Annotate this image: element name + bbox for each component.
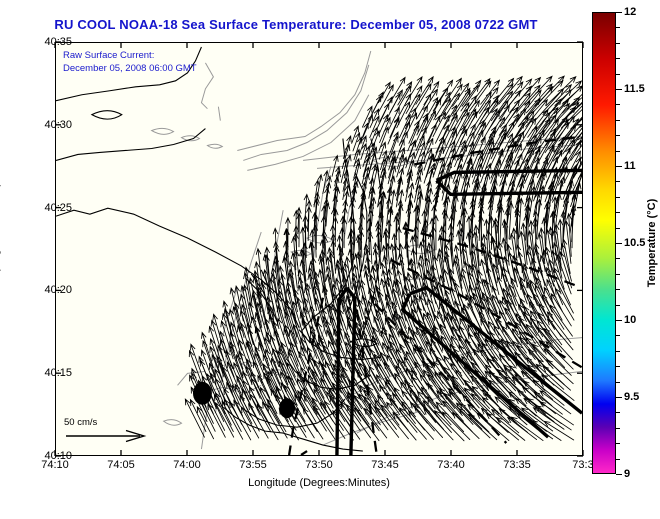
colorbar-tick-mark (616, 181, 620, 182)
x-axis-tick-label: 73:35 (503, 459, 531, 471)
x-axis-tick-label: 73:50 (305, 459, 333, 471)
scale-bar: 50 cm/s (64, 417, 160, 443)
current-vector (529, 221, 534, 262)
figure-title: RU COOL NOAA-18 Sea Surface Temperature:… (0, 17, 592, 32)
current-vector (554, 276, 574, 313)
y-axis-tick-label: 40:20 (44, 284, 72, 296)
y-axis-tick-label: 40:30 (44, 119, 72, 131)
colorbar-tick-mark (616, 366, 620, 367)
station-marker (279, 398, 295, 418)
colorbar-tick-label: 11 (624, 160, 636, 172)
colorbar-tick-mark (616, 135, 620, 136)
colorbar-tick-mark (616, 228, 620, 229)
y-axis-label: Latitude (Degrees:Minutes) (0, 183, 1, 316)
x-axis-tick-label: 73:40 (437, 459, 465, 471)
colorbar-tick-mark (616, 289, 620, 290)
current-vector (427, 397, 451, 425)
current-vector (303, 408, 323, 439)
colorbar-tick-mark (616, 104, 620, 105)
subtitle-overlay: Raw Surface Current: December 05, 2008 0… (63, 49, 197, 75)
current-vector (307, 207, 312, 241)
current-vector (492, 356, 516, 384)
colorbar-tick-label: 10 (624, 314, 636, 326)
current-vector (484, 220, 489, 256)
current-vector (561, 244, 572, 281)
x-axis-tick-label: 74:05 (107, 459, 135, 471)
surface-current-vectors (185, 76, 582, 441)
scale-bar-label: 50 cm/s (64, 417, 160, 428)
current-vector (533, 380, 564, 405)
colorbar-tick-mark (616, 274, 620, 275)
map-plot-area[interactable]: Raw Surface Current: December 05, 2008 0… (55, 42, 583, 456)
x-axis-tick-label: 74:10 (41, 459, 69, 471)
colorbar-tick-label: 9.5 (624, 391, 639, 403)
current-vector (533, 408, 564, 429)
current-vector (417, 94, 431, 119)
current-vector (457, 221, 462, 256)
current-vector (353, 133, 360, 151)
x-axis-tick-label: 73:45 (371, 459, 399, 471)
colorbar-tick-mark (616, 243, 622, 244)
colorbar-tick-label: 9 (624, 468, 630, 480)
subtitle-line-1: Raw Surface Current: (63, 49, 197, 62)
colorbar-tick-mark (616, 459, 620, 460)
current-vector (354, 137, 362, 159)
station-marker (193, 382, 212, 405)
colorbar-tick-mark (616, 428, 620, 429)
colorbar-tick-mark (616, 58, 620, 59)
colorbar-tick-mark (616, 89, 622, 90)
colorbar-tick-mark (616, 197, 620, 198)
x-axis-tick-label: 74:00 (173, 459, 201, 471)
subtitle-line-2: December 05, 2008 06:00 GMT (63, 62, 197, 75)
current-vector (388, 119, 399, 144)
colorbar-tick-mark (616, 412, 620, 413)
colorbar-tick-mark (616, 320, 622, 321)
current-vector (528, 110, 548, 138)
sst-map-figure: RU COOL NOAA-18 Sea Surface Temperature:… (0, 0, 660, 519)
colorbar-tick-mark (616, 43, 620, 44)
x-axis-tick-label: 73:3 (572, 459, 593, 471)
current-vector (397, 227, 402, 257)
colorbar-tick-mark (616, 120, 620, 121)
y-axis-tick-label: 40:15 (44, 367, 72, 379)
colorbar-title: Temperature (°C) (646, 199, 658, 288)
colorbar-tick-mark (616, 474, 622, 475)
y-axis-tick-label: 40:25 (44, 202, 72, 214)
scale-bar-arrow-icon (64, 429, 150, 443)
current-vector (497, 418, 525, 441)
map-graphics (56, 43, 582, 455)
colorbar-tick-mark (616, 166, 622, 167)
x-axis-label: Longitude (Degrees:Minutes) (248, 477, 390, 489)
current-vector (284, 251, 289, 281)
colorbar-tick-mark (616, 351, 620, 352)
colorbar-ticks (592, 12, 616, 474)
colorbar-tick-mark (616, 74, 620, 75)
colorbar-tick-mark (616, 151, 620, 152)
colorbar-tick-mark (616, 27, 620, 28)
colorbar-tick-mark (616, 335, 620, 336)
colorbar-tick-label: 11.5 (624, 83, 645, 95)
colorbar-tick-mark (616, 258, 620, 259)
y-axis-tick-label: 40:35 (44, 36, 72, 48)
current-vector (558, 220, 563, 256)
colorbar-tick-label: 12 (624, 6, 636, 18)
colorbar-tick-label: 10.5 (624, 237, 645, 249)
colorbar-tick-mark (616, 443, 620, 444)
colorbar-tick-mark (616, 397, 622, 398)
map-canvas (56, 43, 582, 455)
current-vector (185, 399, 204, 437)
colorbar-tick-mark (616, 382, 620, 383)
current-vector (502, 273, 517, 311)
current-vector (470, 81, 491, 110)
colorbar-tick-mark (616, 12, 622, 13)
current-vector (374, 354, 396, 391)
current-vector (317, 175, 322, 199)
colorbar-tick-mark (616, 212, 620, 213)
x-axis-tick-label: 73:55 (239, 459, 267, 471)
colorbar-tick-mark (616, 305, 620, 306)
current-vector (544, 421, 573, 440)
